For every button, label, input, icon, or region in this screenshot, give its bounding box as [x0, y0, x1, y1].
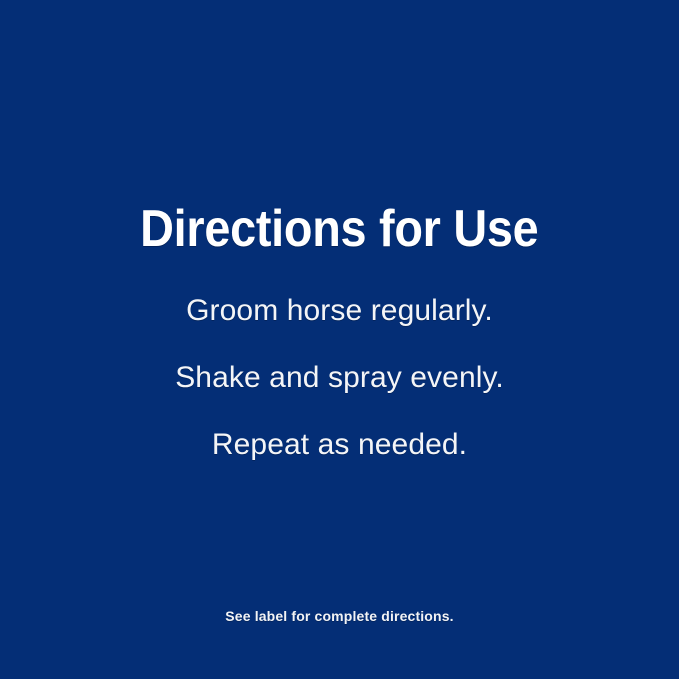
footer-disclaimer: See label for complete directions. [0, 606, 679, 626]
instruction-step-3: Repeat as needed. [0, 426, 679, 493]
instruction-step-1: Groom horse regularly. [0, 292, 679, 359]
instructions-list: Groom horse regularly. Shake and spray e… [0, 292, 679, 493]
page-title: Directions for Use [140, 203, 538, 255]
directions-for-use-panel: Directions for Use Groom horse regularly… [0, 0, 679, 679]
page-title-container: Directions for Use [0, 203, 679, 255]
instruction-step-2: Shake and spray evenly. [0, 359, 679, 426]
